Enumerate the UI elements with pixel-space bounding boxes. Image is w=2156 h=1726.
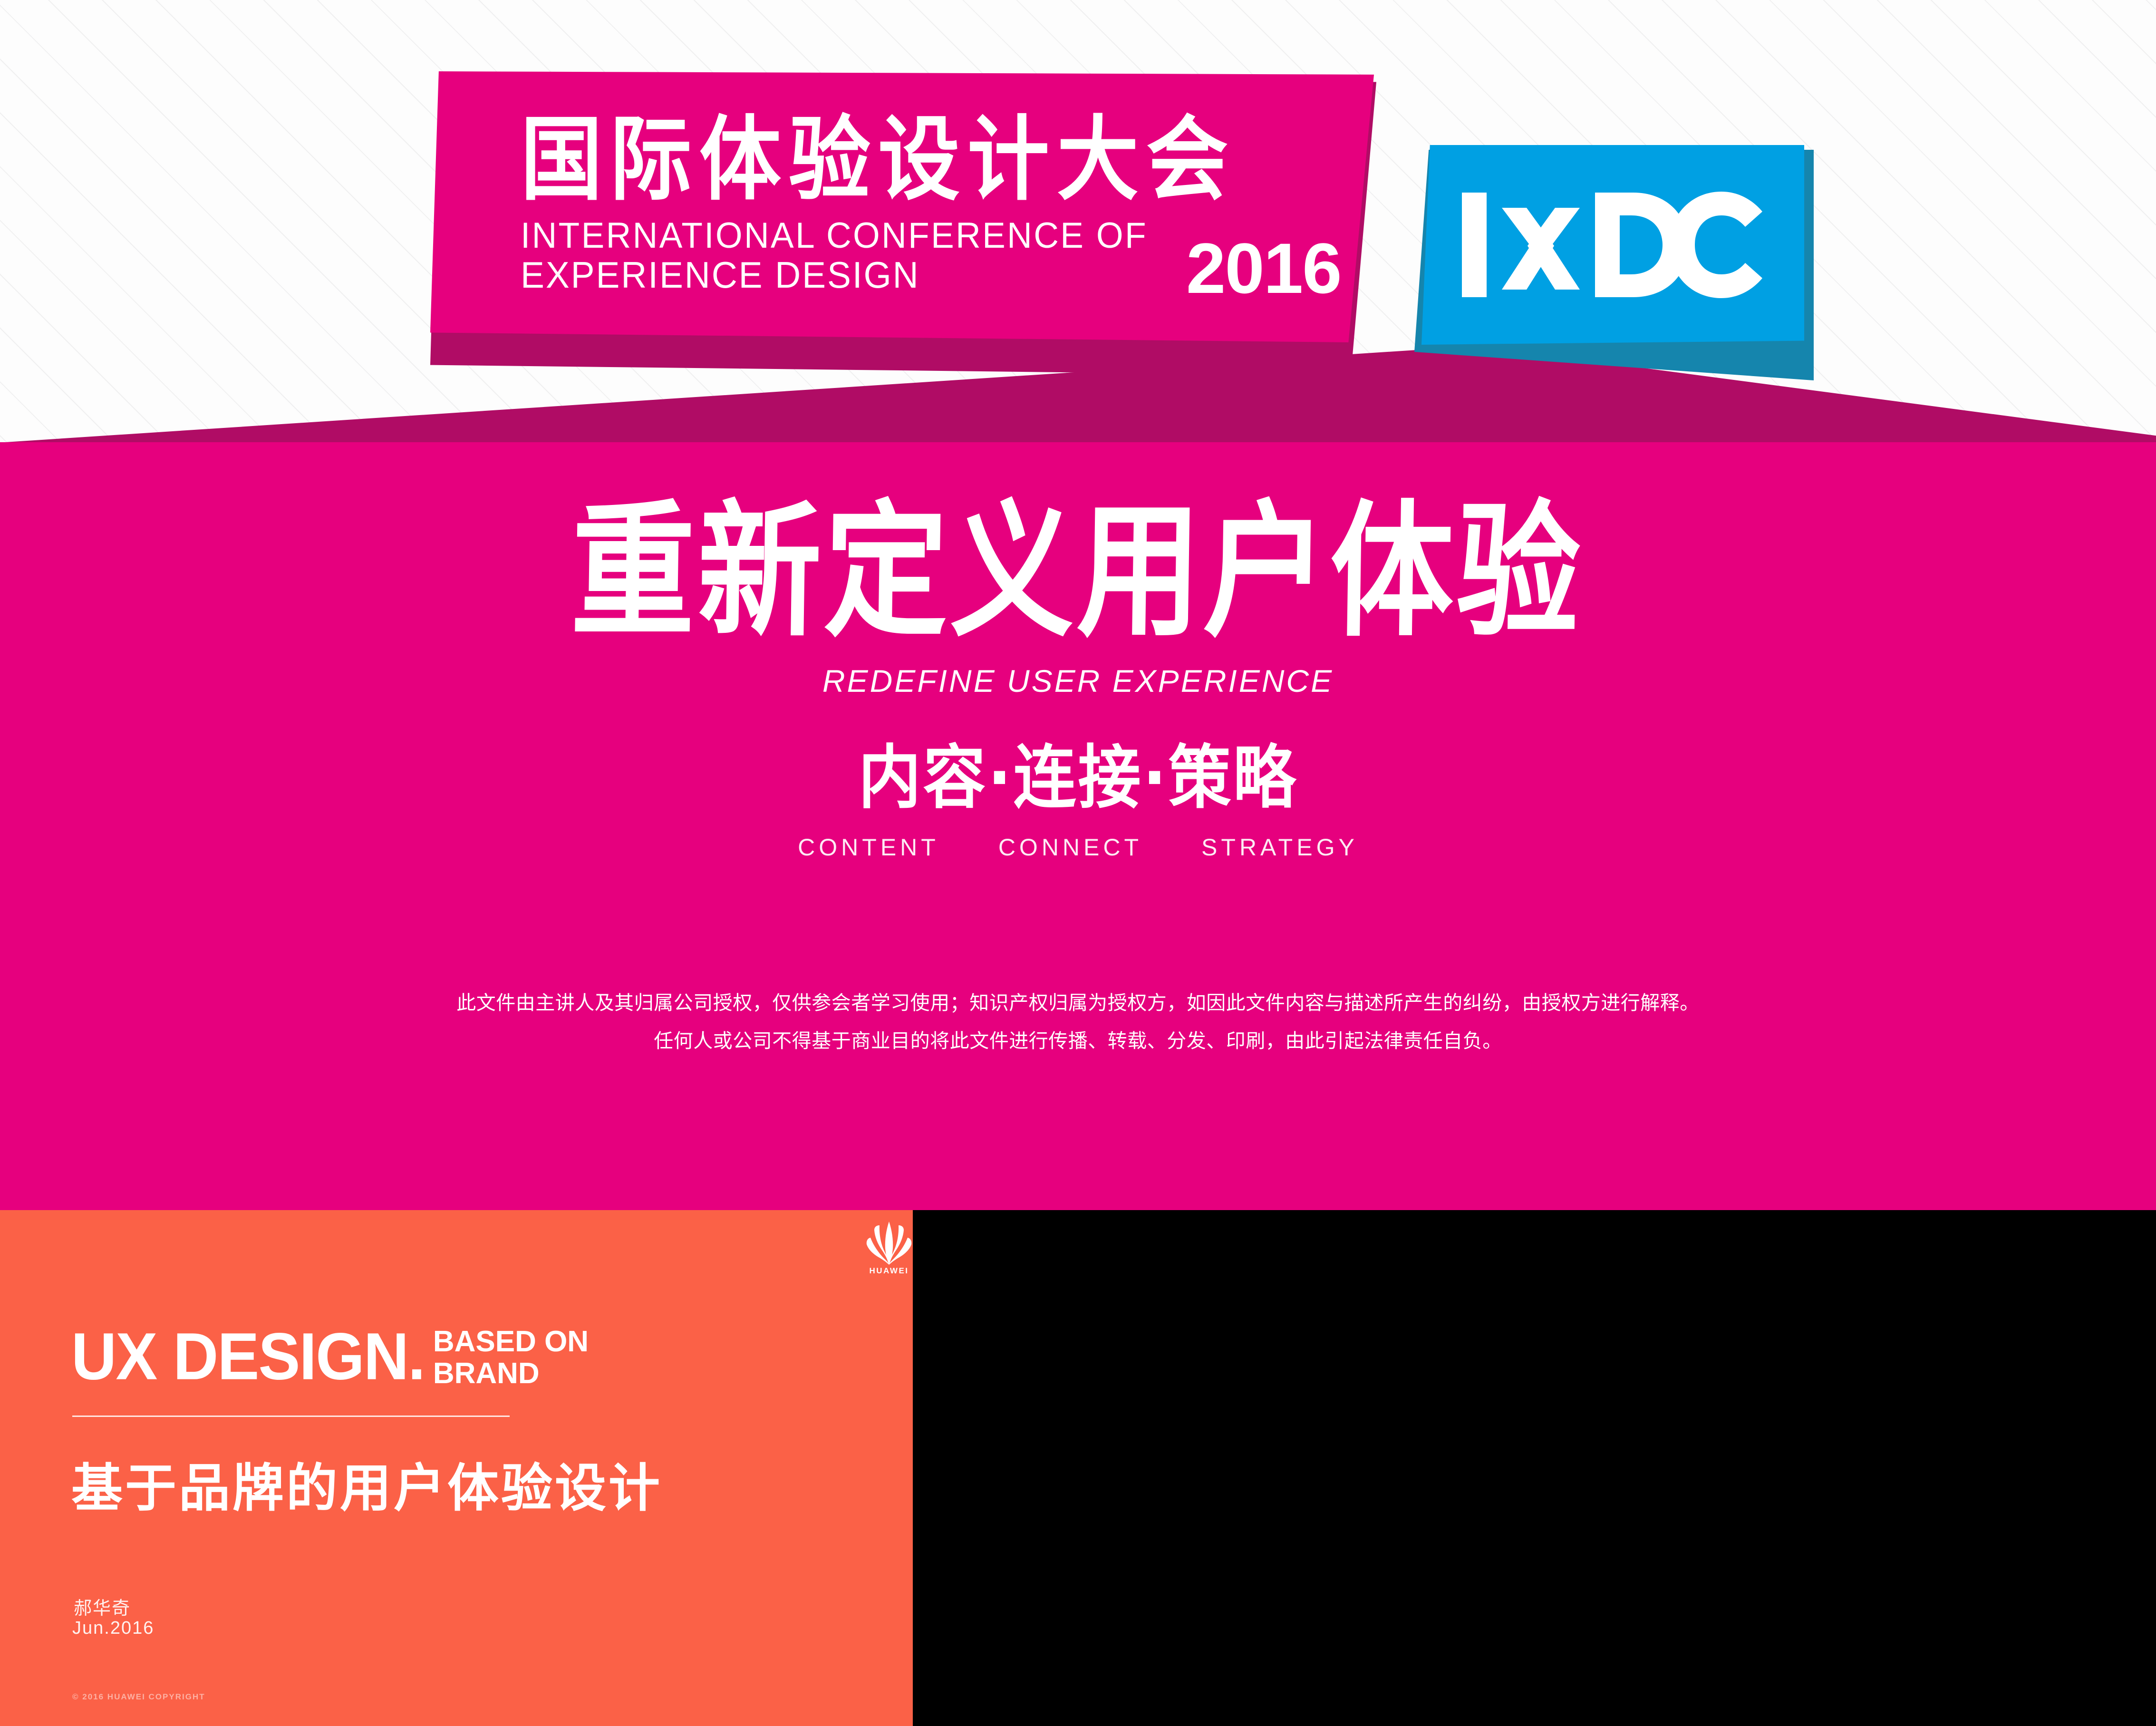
disclaimer-block: 此文件由主讲人及其归属公司授权，仅供参会者学习使用；知识产权归属为授权方，如因此… [0, 984, 2156, 1060]
hero-subtitle-en-content: CONTENT [798, 834, 939, 861]
huawei-flower-icon [865, 1219, 913, 1271]
conference-subtitle-group: INTERNATIONAL CONFERENCE OF EXPERIENCE D… [521, 217, 1374, 294]
slide-title-cn: 基于品牌的用户体验设计 [71, 1447, 662, 1521]
disclaimer-line-2: 任何人或公司不得基于商业目的将此文件进行传播、转载、分发、印刷，由此引起法律责任… [0, 1022, 2156, 1060]
conference-subtitle-lines: INTERNATIONAL CONFERENCE OF EXPERIENCE D… [521, 217, 1174, 294]
conference-title-cn: 国际体验设计大会 [521, 114, 1374, 206]
hero-section: 重新定义用户体验 REDEFINE USER EXPERIENCE 内容·连接·… [0, 442, 2156, 1210]
hero-subtitle-en-connect: CONNECT [998, 834, 1142, 861]
presentation-slide: HUAWEI UX DESIGN. BASED ON BRAND 基于品牌的用户… [0, 1210, 913, 1726]
conference-banner: 国际体验设计大会 INTERNATIONAL CONFERENCE OF EXP… [430, 71, 1374, 342]
conference-year: 2016 [1186, 237, 1341, 300]
ixdc-logo[interactable] [1421, 145, 1804, 345]
slide-author: 郝华奇 [74, 1593, 131, 1619]
slide-title-group: UX DESIGN. BASED ON BRAND [71, 1323, 589, 1390]
huawei-wordmark: HUAWEI [870, 1266, 909, 1276]
slide-title-accent-line1: BASED ON [433, 1326, 589, 1358]
slide-title-accent: BASED ON BRAND [433, 1326, 589, 1390]
conference-banner-content: 国际体验设计大会 INTERNATIONAL CONFERENCE OF EXP… [430, 71, 1374, 342]
slide-divider [72, 1416, 510, 1417]
slide-title-accent-line2: BRAND [433, 1358, 589, 1390]
hero-title-en: REDEFINE USER EXPERIENCE [822, 663, 1334, 699]
slide-title-main: UX DESIGN. [71, 1323, 425, 1390]
hero-subtitle-en-group: CONTENT CONNECT STRATEGY [798, 834, 1358, 861]
conference-subtitle-line2: EXPERIENCE DESIGN [521, 255, 1148, 295]
conference-subtitle-line1: INTERNATIONAL CONFERENCE OF [521, 217, 1148, 255]
slide-date: Jun.2016 [72, 1618, 154, 1639]
disclaimer-line-1: 此文件由主讲人及其归属公司授权，仅供参会者学习使用；知识产权归属为授权方，如因此… [0, 984, 2156, 1022]
hero-subtitle-cn: 内容·连接·策略 [858, 722, 1297, 822]
hero-subtitle-en-strategy: STRATEGY [1201, 834, 1358, 861]
ixdc-logo-mark [1456, 183, 1770, 307]
hero-title-cn: 重新定义用户体验 [570, 499, 1584, 645]
hero-content: 重新定义用户体验 REDEFINE USER EXPERIENCE 内容·连接·… [0, 442, 2156, 1210]
slide-copyright: © 2016 HUAWEI COPYRIGHT [72, 1692, 205, 1702]
slide-viewport: HUAWEI UX DESIGN. BASED ON BRAND 基于品牌的用户… [0, 1210, 2156, 1726]
